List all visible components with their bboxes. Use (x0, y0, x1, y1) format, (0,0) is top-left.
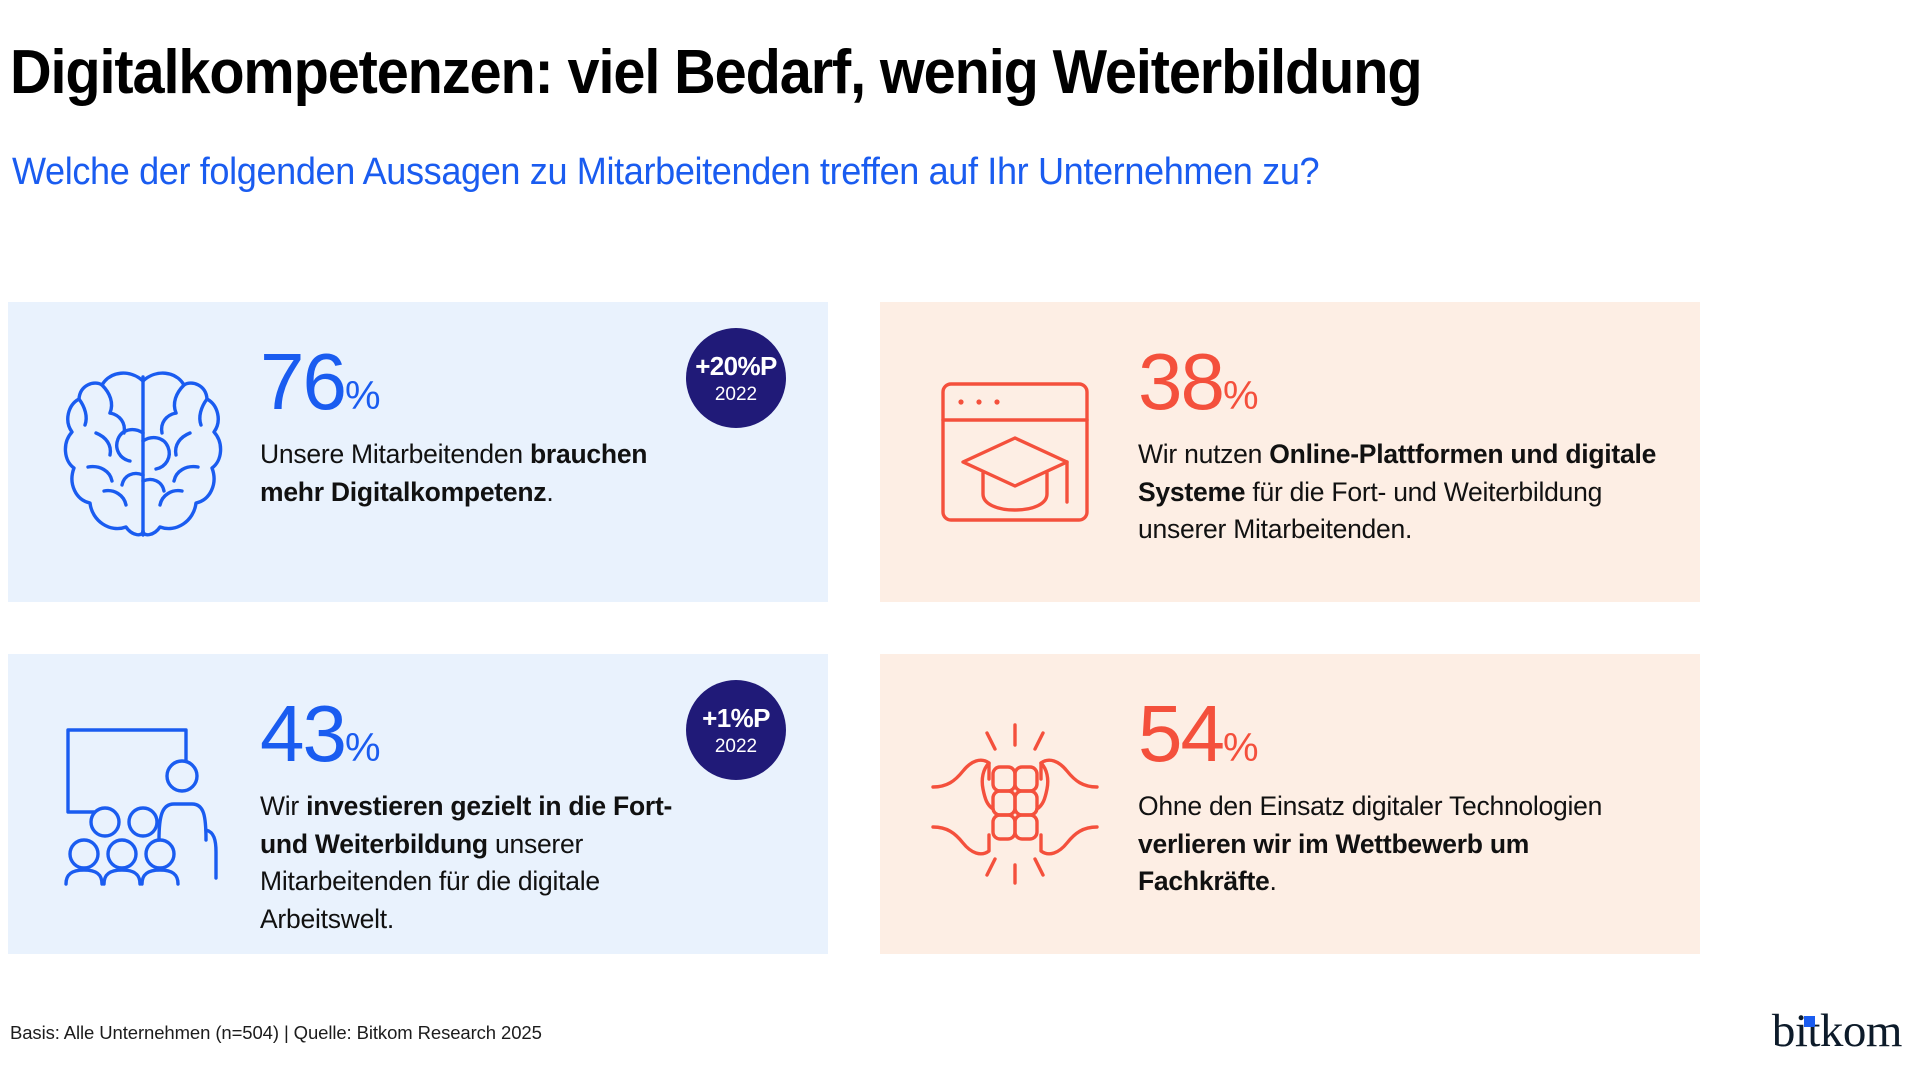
stat-number: 38 (1138, 337, 1223, 426)
card-description: Wir nutzen Online-Plattformen und digita… (1138, 436, 1660, 549)
page-title: Digitalkompetenzen: viel Bedarf, wenig W… (10, 40, 1740, 105)
stat-number: 54 (1138, 689, 1223, 778)
stat-percent: % (1223, 726, 1258, 770)
online-learning-icon (920, 352, 1110, 552)
card-description: Unsere Mitarbeitenden brauchen mehr Digi… (260, 436, 678, 511)
badge-delta: +1%P (702, 705, 770, 731)
badge-year: 2022 (715, 385, 757, 404)
badge-year: 2022 (715, 737, 757, 756)
infographic-page: Digitalkompetenzen: viel Bedarf, wenig W… (0, 0, 1920, 1080)
stat-card-investition-weiterbildung: 43% Wir investieren gezielt in die Fort-… (8, 654, 828, 954)
bitkom-wordmark: bitkom (1772, 1005, 1902, 1057)
plain-text: . (1270, 866, 1277, 896)
classroom-training-icon (48, 704, 238, 904)
bitkom-logo: bitkom (1772, 1008, 1902, 1055)
source-note: Basis: Alle Unternehmen (n=504) | Quelle… (10, 1022, 542, 1044)
card-body: 43% Wir investieren gezielt in die Fort-… (260, 694, 678, 939)
page-subtitle: Welche der folgenden Aussagen zu Mitarbe… (12, 152, 1798, 194)
stat-value: 76% (260, 342, 678, 422)
card-body: 38% Wir nutzen Online-Plattformen und di… (1138, 342, 1660, 549)
plain-text: Unsere Mitarbeitenden (260, 439, 530, 469)
change-badge: +1%P 2022 (686, 680, 786, 780)
card-description: Wir investieren gezielt in die Fort- und… (260, 788, 678, 939)
emphasis-text: verlieren wir im Wettbewerb um Fachkräft… (1138, 829, 1529, 897)
plain-text: Wir nutzen (1138, 439, 1269, 469)
stat-card-digitalkompetenz: 76% Unsere Mitarbeitenden brauchen mehr … (8, 302, 828, 602)
plain-text: Wir (260, 791, 306, 821)
stat-percent: % (345, 726, 380, 770)
stat-percent: % (345, 374, 380, 418)
fist-bump-icon (920, 704, 1110, 904)
stat-value: 38% (1138, 342, 1660, 422)
card-body: 76% Unsere Mitarbeitenden brauchen mehr … (260, 342, 678, 511)
stat-number: 76 (260, 337, 345, 426)
stat-number: 43 (260, 689, 345, 778)
brain-icon (48, 352, 238, 552)
stat-card-wettbewerb-fachkraefte: 54% Ohne den Einsatz digitaler Technolog… (880, 654, 1700, 954)
plain-text: . (546, 477, 553, 507)
stat-card-online-plattformen: 38% Wir nutzen Online-Plattformen und di… (880, 302, 1700, 602)
change-badge: +20%P 2022 (686, 328, 786, 428)
stat-percent: % (1223, 374, 1258, 418)
badge-delta: +20%P (695, 353, 777, 379)
stat-value: 43% (260, 694, 678, 774)
card-description: Ohne den Einsatz digitaler Technologien … (1138, 788, 1660, 901)
stat-value: 54% (1138, 694, 1660, 774)
card-body: 54% Ohne den Einsatz digitaler Technolog… (1138, 694, 1660, 901)
logo-dot-icon (1804, 1016, 1815, 1027)
plain-text: Ohne den Einsatz digitaler Technologien (1138, 791, 1602, 821)
emphasis-text: investieren gezielt in die Fort- und Wei… (260, 791, 672, 859)
